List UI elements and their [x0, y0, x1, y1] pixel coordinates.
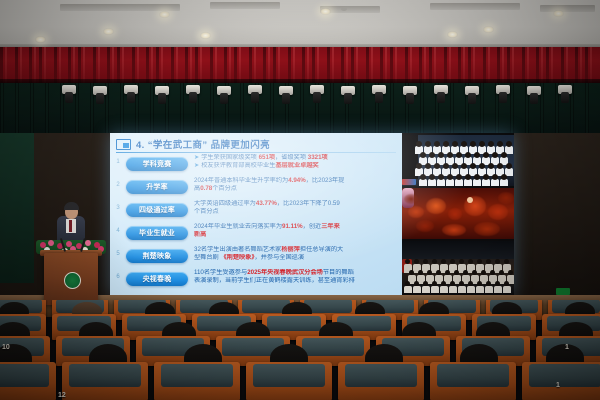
- highlighted-text: 2025年央视春晚武汉分会场: [247, 269, 323, 276]
- slide-row-text: 2024年普通本科毕业生升学率约为4.94%，比2023年提高0.78个百分点: [194, 177, 390, 194]
- slide-text-line: 新高: [194, 231, 390, 239]
- choir-member-head: [416, 141, 422, 147]
- choir-member-shirt: [491, 179, 499, 186]
- ensemble-member-head: [504, 281, 509, 286]
- choir-member-shirt: [500, 179, 508, 186]
- choir-member-head: [492, 152, 498, 158]
- choir-member-shirt: [428, 179, 436, 186]
- spotlight-body: [406, 93, 414, 104]
- spotlight-body: [344, 93, 352, 104]
- choir-member-head: [488, 141, 494, 147]
- ensemble-member-body: [404, 286, 412, 293]
- seat[interactable]: [154, 362, 240, 400]
- highlighted-text: 杨丽萍: [281, 246, 300, 253]
- auditorium-photo: 4. “学在武工商” 品牌更加闪亮 123456 学科竞赛升学率四级通过率毕业生…: [0, 0, 600, 400]
- ensemble-member-head: [459, 259, 464, 264]
- speaker-hair: [64, 202, 79, 210]
- slide-marker-icon: [116, 139, 131, 150]
- ensemble-member-body: [431, 286, 439, 293]
- spotlight-body: [189, 92, 197, 103]
- seat[interactable]: [522, 362, 600, 400]
- body-text: 大学英语四级通过率为: [194, 200, 256, 207]
- ensemble-member-head: [423, 259, 428, 264]
- seat[interactable]: [62, 362, 148, 400]
- ceiling-downlight: [553, 10, 564, 17]
- ensemble-member-head: [441, 281, 446, 286]
- body-text: 2024年普通本科毕业生升学率约为: [194, 177, 288, 184]
- slide-text-line: 高0.78个百分点: [194, 185, 390, 193]
- choir-member-head: [470, 141, 476, 147]
- ensemble-member-head: [468, 281, 473, 286]
- choir-member-shirt: [446, 179, 454, 186]
- ensemble-member-head: [477, 281, 482, 286]
- seat-cushion: [437, 364, 509, 387]
- highlighted-text: 0.78: [200, 185, 212, 192]
- bullet-icon: ➤: [194, 154, 199, 161]
- choir-member-head: [456, 174, 462, 180]
- dance-light-blob: [426, 198, 446, 214]
- highlighted-text: 91.11%: [282, 223, 303, 230]
- slide-row-text: 110名学生受邀参与2025年央视春晚武汉分会场节目的舞蹈表演录制，当前学生们正…: [194, 269, 390, 286]
- choir-member-head: [434, 163, 440, 169]
- ensemble-member-head: [414, 259, 419, 264]
- slide-row-text: ➤学生荣获国家级奖项 651项，省级奖项 3321项➤校友获评教育部高校毕业生基…: [194, 154, 390, 171]
- choir-member-head: [483, 152, 489, 158]
- ensemble-member-body: [485, 286, 493, 293]
- ensemble-member-head: [436, 270, 441, 275]
- choir-member-head: [443, 141, 449, 147]
- ceiling-downlight: [447, 31, 458, 38]
- row-number: 3: [112, 205, 124, 211]
- choir-member-shirt: [473, 179, 481, 186]
- row-number-column: 123456: [112, 155, 124, 293]
- dance-light-blob: [404, 194, 418, 204]
- school-crest-icon: [64, 272, 81, 289]
- spotlight-body: [127, 92, 135, 103]
- ensemble-member-head: [445, 270, 450, 275]
- choir-member-head: [452, 141, 458, 147]
- body-text: 担任总导演的大: [300, 246, 343, 253]
- flag-accent: [402, 179, 416, 185]
- spotlight-body: [220, 93, 228, 104]
- body-text: ，比2023年下降了0.59: [277, 200, 340, 207]
- body-text: 个百分点: [212, 185, 237, 192]
- slide-text-line: ➤校友获评教育部高校毕业生基层就业卓越奖: [194, 162, 390, 170]
- ceiling-vent: [540, 5, 595, 12]
- smoke-detector: [341, 7, 347, 11]
- choir-member-head: [501, 174, 507, 180]
- choir-member-head: [461, 141, 467, 147]
- ceiling-vent: [60, 4, 180, 11]
- choir-member-head: [465, 152, 471, 158]
- seat[interactable]: [246, 362, 332, 400]
- highlighted-text: 4.94%: [288, 177, 306, 184]
- pill-label: 毕业生就业: [139, 228, 175, 238]
- spotlight-body: [251, 92, 259, 103]
- flower: [48, 240, 54, 246]
- choir-member-head: [425, 141, 431, 147]
- ensemble-member-head: [405, 281, 410, 286]
- ensemble-member-body: [494, 286, 502, 293]
- choir-member-shirt: [455, 179, 463, 186]
- choir-member-head: [497, 141, 503, 147]
- ensemble-member-body: [449, 286, 457, 293]
- body-text: 110名学生受邀参与: [194, 269, 247, 276]
- ensemble-member-body: [422, 286, 430, 293]
- spotlight-body: [158, 93, 166, 104]
- seat-cushion: [529, 364, 600, 387]
- choir-member-shirt: [437, 179, 445, 186]
- choir-member-head: [479, 163, 485, 169]
- slide-row-text: 32名学生出演由著名舞蹈艺术家杨丽萍担任总导演的大型舞台剧 《荆楚映象》，并参与…: [194, 246, 390, 263]
- body-text: ，省级奖项: [275, 154, 308, 161]
- choir-performance-photo: [402, 135, 514, 186]
- ensemble-member-head: [504, 259, 509, 264]
- ceiling-vent: [210, 2, 280, 9]
- pill-升学率[interactable]: 升学率: [126, 180, 188, 194]
- choir-member-head: [474, 152, 480, 158]
- slide-text-line: ➤学生荣获国家级奖项 651项，省级奖项 3321项: [194, 154, 390, 162]
- ensemble-member-head: [495, 259, 500, 264]
- slide-text-line: 2024年毕业生就业去向落实率为91.11%，创近三年来: [194, 223, 390, 231]
- ceiling-downlight: [103, 28, 114, 35]
- body-text: ，比2023年提: [306, 177, 345, 184]
- ensemble-member-head: [468, 259, 473, 264]
- title-divider: [116, 152, 396, 153]
- choir-member-head: [488, 163, 494, 169]
- spotlight-body: [561, 92, 569, 103]
- slide-text-line: 2024年普通本科毕业生升学率约为4.94%，比2023年提: [194, 177, 390, 185]
- stage-dance-photo: [402, 188, 514, 239]
- ceiling-downlight: [200, 32, 211, 39]
- ensemble-member-head: [495, 281, 500, 286]
- pill-label: 升学率: [146, 182, 168, 192]
- highlighted-text: 43.77%: [256, 200, 277, 207]
- choir-member-head: [425, 163, 431, 169]
- choir-member-head: [447, 174, 453, 180]
- pill-label: 四级通过率: [139, 205, 175, 215]
- ensemble-member-head: [459, 281, 464, 286]
- ensemble-member-body: [413, 286, 421, 293]
- body-text: 个百分点: [194, 208, 219, 215]
- seat-row-number: 10: [2, 344, 10, 351]
- highlighted-text: 《荆楚映象》: [220, 254, 254, 261]
- slide-text-line: 表演录制，当前学生们正在黄鹤楼露天训练，甚至通宵彩排: [194, 277, 390, 285]
- flower: [85, 240, 91, 246]
- ensemble-member-head: [441, 259, 446, 264]
- choir-member-head: [506, 141, 512, 147]
- ensemble-backdrop: [402, 241, 514, 259]
- spotlight-body: [282, 93, 290, 104]
- audience-seating: 101121: [0, 300, 600, 400]
- pill-label: 学科竞赛: [143, 159, 172, 169]
- photo-strip: [402, 133, 514, 295]
- ensemble-member-head: [432, 281, 437, 286]
- seat[interactable]: [338, 362, 424, 400]
- ensemble-member-head: [508, 270, 513, 275]
- row-number: 1: [112, 159, 124, 165]
- ceiling-downlight: [159, 11, 170, 18]
- choir-member-head: [452, 163, 458, 169]
- pill-央视春晚[interactable]: 央视春晚: [126, 272, 188, 286]
- spotlight-body: [437, 92, 445, 103]
- choir-member-shirt: [419, 179, 427, 186]
- page-title: 4. “学在武工商” 品牌更加闪亮: [136, 137, 270, 151]
- choir-member-head: [497, 163, 503, 169]
- seat-cushion: [267, 316, 321, 332]
- seat-cushion: [253, 364, 325, 387]
- choir-member-head: [420, 174, 426, 180]
- seat[interactable]: [0, 362, 56, 400]
- seat-cushion: [345, 364, 417, 387]
- ensemble-member-head: [414, 281, 419, 286]
- ensemble-member-head: [454, 270, 459, 275]
- row-number: 6: [112, 274, 124, 280]
- dance-light-blob: [474, 222, 500, 236]
- slide-text-line: 个百分点: [194, 208, 390, 216]
- dance-light-blob: [498, 192, 514, 204]
- choir-member-head: [479, 141, 485, 147]
- dance-light-blob: [488, 204, 508, 220]
- ensemble-performance-photo: [402, 241, 514, 293]
- ensemble-member-head: [472, 270, 477, 275]
- pill-label: 荆楚映象: [143, 251, 172, 261]
- ensemble-member-head: [432, 259, 437, 264]
- choir-member-head: [501, 152, 507, 158]
- ensemble-member-head: [481, 270, 486, 275]
- body-text: 节目的舞蹈: [323, 269, 354, 276]
- highlighted-text: 基层就业卓越奖: [275, 162, 318, 169]
- choir-member-head: [456, 152, 462, 158]
- pill-学科竞赛[interactable]: 学科竞赛: [126, 157, 188, 171]
- slide-text-line: 110名学生受邀参与2025年央视春晚武汉分会场节目的舞蹈: [194, 269, 390, 277]
- choir-member-head: [461, 163, 467, 169]
- ensemble-member-head: [450, 259, 455, 264]
- spotlight-body: [499, 92, 507, 103]
- highlighted-text: 新高: [194, 231, 206, 238]
- side-curtain-left: [0, 133, 34, 283]
- highlighted-text: 651项: [259, 154, 276, 161]
- choir-member-head: [492, 174, 498, 180]
- choir-member-shirt: [464, 179, 472, 186]
- spotlight-body: [375, 92, 383, 103]
- dance-light-blob: [448, 208, 462, 220]
- choir-member-head: [465, 174, 471, 180]
- ensemble-member-head: [450, 281, 455, 286]
- seat-cushion: [69, 364, 141, 387]
- ensemble-member-body: [467, 286, 475, 293]
- ensemble-member-head: [423, 281, 428, 286]
- seat-cushion: [302, 338, 364, 356]
- highlighted-text: 3321项: [308, 154, 328, 161]
- row-number: 5: [112, 251, 124, 257]
- pill-荆楚映象[interactable]: 荆楚映象: [126, 249, 188, 263]
- ensemble-member-head: [499, 270, 504, 275]
- lead-dancer-head: [467, 197, 473, 203]
- body-text: 表演录制，当前学生们正在黄鹤楼露天训练，甚至通宵彩排: [194, 277, 355, 284]
- choir-member-head: [429, 152, 435, 158]
- seat[interactable]: [430, 362, 516, 400]
- slide-row-text: 2024年毕业生就业去向落实率为91.11%，创近三年来新高: [194, 223, 390, 240]
- spotlight-body: [530, 93, 538, 104]
- highlighted-text: 三年来: [321, 223, 340, 230]
- exit-sign: [556, 288, 570, 295]
- dance-light-blob: [408, 206, 424, 218]
- ensemble-member-head: [418, 270, 423, 275]
- ensemble-member-head: [427, 270, 432, 275]
- spotlight-body: [313, 92, 321, 103]
- choir-member-head: [470, 163, 476, 169]
- ensemble-member-head: [477, 259, 482, 264]
- choir-member-head: [438, 152, 444, 158]
- spotlight-body: [96, 93, 104, 104]
- ensemble-member-head: [463, 270, 468, 275]
- choir-member-shirt: [482, 179, 490, 186]
- spotlight-body: [65, 92, 73, 103]
- choir-member-head: [447, 152, 453, 158]
- ensemble-member-head: [486, 259, 491, 264]
- slide-text-line: 大学英语四级通过率为43.77%，比2023年下降了0.59: [194, 200, 390, 208]
- slide-row-text: 大学英语四级通过率为43.77%，比2023年下降了0.59个百分点: [194, 200, 390, 217]
- stage-light-bar: [0, 84, 600, 100]
- ensemble-member-head: [405, 259, 410, 264]
- body-text: 校友获评教育部高校毕业生: [201, 162, 275, 169]
- seat-cushion: [161, 364, 233, 387]
- seat-row-number: 1: [556, 382, 560, 389]
- choir-member-head: [434, 141, 440, 147]
- choir-member-head: [429, 174, 435, 180]
- pill-四级通过率[interactable]: 四级通过率: [126, 203, 188, 217]
- ensemble-member-body: [476, 286, 484, 293]
- choir-member-head: [438, 174, 444, 180]
- dance-light-blob: [442, 224, 466, 236]
- ensemble-member-body: [503, 286, 511, 293]
- body-text: 型舞台剧: [194, 254, 220, 261]
- pill-label: 央视春晚: [143, 274, 172, 284]
- projection-screen: 4. “学在武工商” 品牌更加闪亮 123456 学科竞赛升学率四级通过率毕业生…: [110, 133, 514, 295]
- pill-毕业生就业[interactable]: 毕业生就业: [126, 226, 188, 240]
- dance-light-blob: [416, 220, 434, 232]
- body-text: ，创近: [303, 223, 322, 230]
- choir-member-head: [420, 152, 426, 158]
- slide-text-line: 32名学生出演由著名舞蹈艺术家杨丽萍担任总导演的大: [194, 246, 390, 254]
- ceiling-vent: [430, 3, 520, 10]
- spotlight-body: [468, 93, 476, 104]
- body-text: 2024年毕业生就业去向落实率为: [194, 223, 282, 230]
- ceiling-downlight: [35, 36, 46, 43]
- seat-row-number: 1: [565, 344, 569, 351]
- ceiling-downlight: [320, 8, 331, 15]
- choir-member-head: [416, 163, 422, 169]
- slide-text-line: 型舞台剧 《荆楚映象》，并参与全国巡演: [194, 254, 390, 262]
- ensemble-member-head: [490, 270, 495, 275]
- ensemble-member-body: [440, 286, 448, 293]
- row-number: 2: [112, 182, 124, 188]
- bullet-icon: ➤: [194, 162, 199, 169]
- seat-cushion: [0, 364, 49, 387]
- choir-member-head: [474, 174, 480, 180]
- ensemble-member-body: [458, 286, 466, 293]
- body-text: ，并参与全国巡演: [255, 254, 305, 261]
- body-text: 学生荣获国家级奖项: [201, 154, 258, 161]
- ensemble-member-head: [486, 281, 491, 286]
- slide-title-row: 4. “学在武工商” 品牌更加闪亮: [116, 136, 398, 152]
- seat-row-number: 12: [58, 392, 66, 399]
- choir-member-head: [443, 163, 449, 169]
- stage-back-wall-right: [514, 133, 600, 295]
- choir-member-head: [483, 174, 489, 180]
- ceiling-downlight: [483, 26, 494, 33]
- row-number: 4: [112, 228, 124, 234]
- ensemble-member-head: [409, 270, 414, 275]
- body-text: 32名学生出演由著名舞蹈艺术家: [194, 246, 281, 253]
- speaker-tie: [69, 220, 72, 232]
- choir-member-head: [506, 163, 512, 169]
